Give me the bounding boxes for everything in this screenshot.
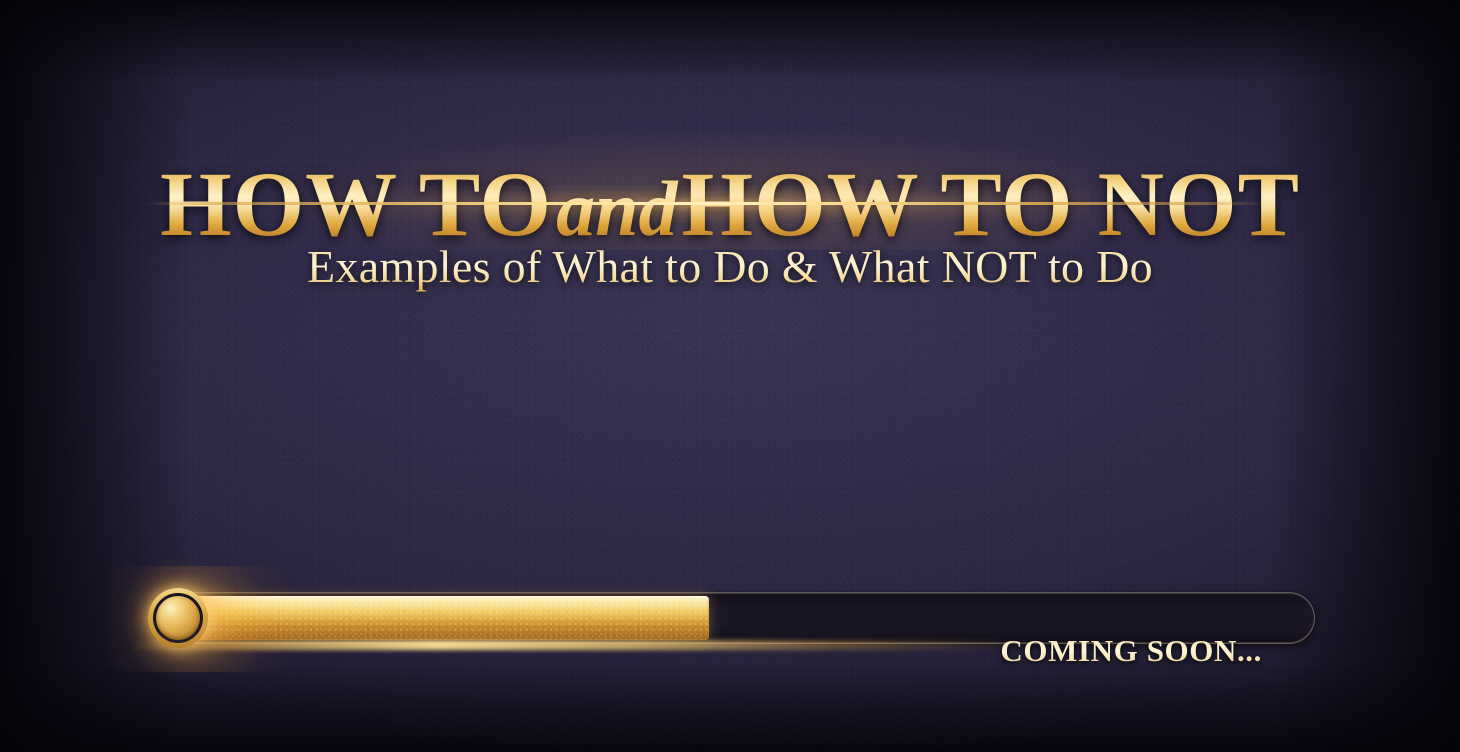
knob-core: [156, 596, 200, 640]
slide-canvas: HOW TOandHOW TO NOT Examples of What to …: [0, 0, 1460, 752]
title-conjunction: and: [552, 165, 681, 252]
progress-section: COMING SOON...: [0, 560, 1460, 690]
progress-fill: [154, 596, 709, 640]
progress-track[interactable]: COMING SOON...: [150, 592, 1315, 644]
page-subtitle: Examples of What to Do & What NOT to Do: [0, 240, 1460, 293]
status-badge: COMING SOON...: [1000, 625, 1262, 677]
progress-knob[interactable]: [148, 588, 208, 648]
title-divider: [148, 202, 1266, 205]
